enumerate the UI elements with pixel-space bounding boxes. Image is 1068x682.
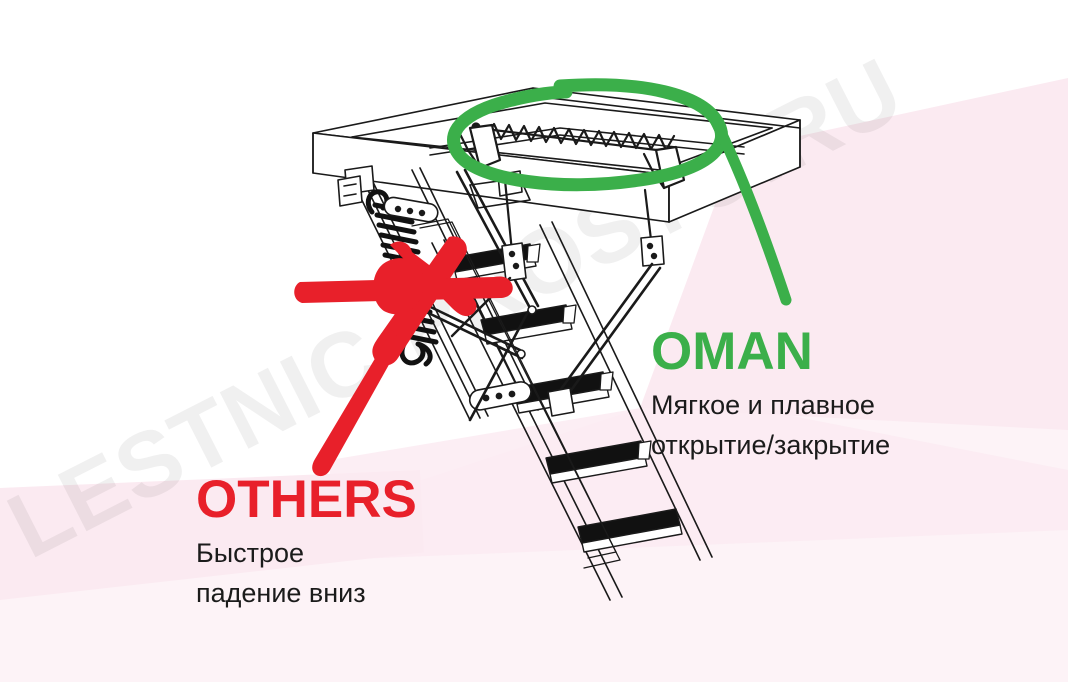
others-desc-line1: Быстрое — [196, 534, 417, 574]
green-pointer-tail — [716, 122, 786, 300]
callout-oman: OMAN Мягкое и плавное открытие/закрытие — [651, 325, 890, 466]
callout-others: OTHERS Быстрое падение вниз — [196, 473, 417, 614]
green-highlight-ellipse — [453, 85, 786, 300]
oman-desc-line2: открытие/закрытие — [651, 426, 890, 466]
annotation-marks — [0, 0, 1068, 682]
red-cross-arrow — [294, 236, 513, 476]
oman-title: OMAN — [651, 325, 890, 378]
others-title: OTHERS — [196, 473, 417, 526]
oman-desc-line1: Мягкое и плавное — [651, 386, 890, 426]
others-desc-line2: падение вниз — [196, 574, 417, 614]
red-pointer-tail — [312, 330, 398, 476]
infographic-canvas: LESTNIC-PROSTO.RU — [0, 0, 1068, 682]
green-ellipse-stroke — [453, 85, 721, 185]
